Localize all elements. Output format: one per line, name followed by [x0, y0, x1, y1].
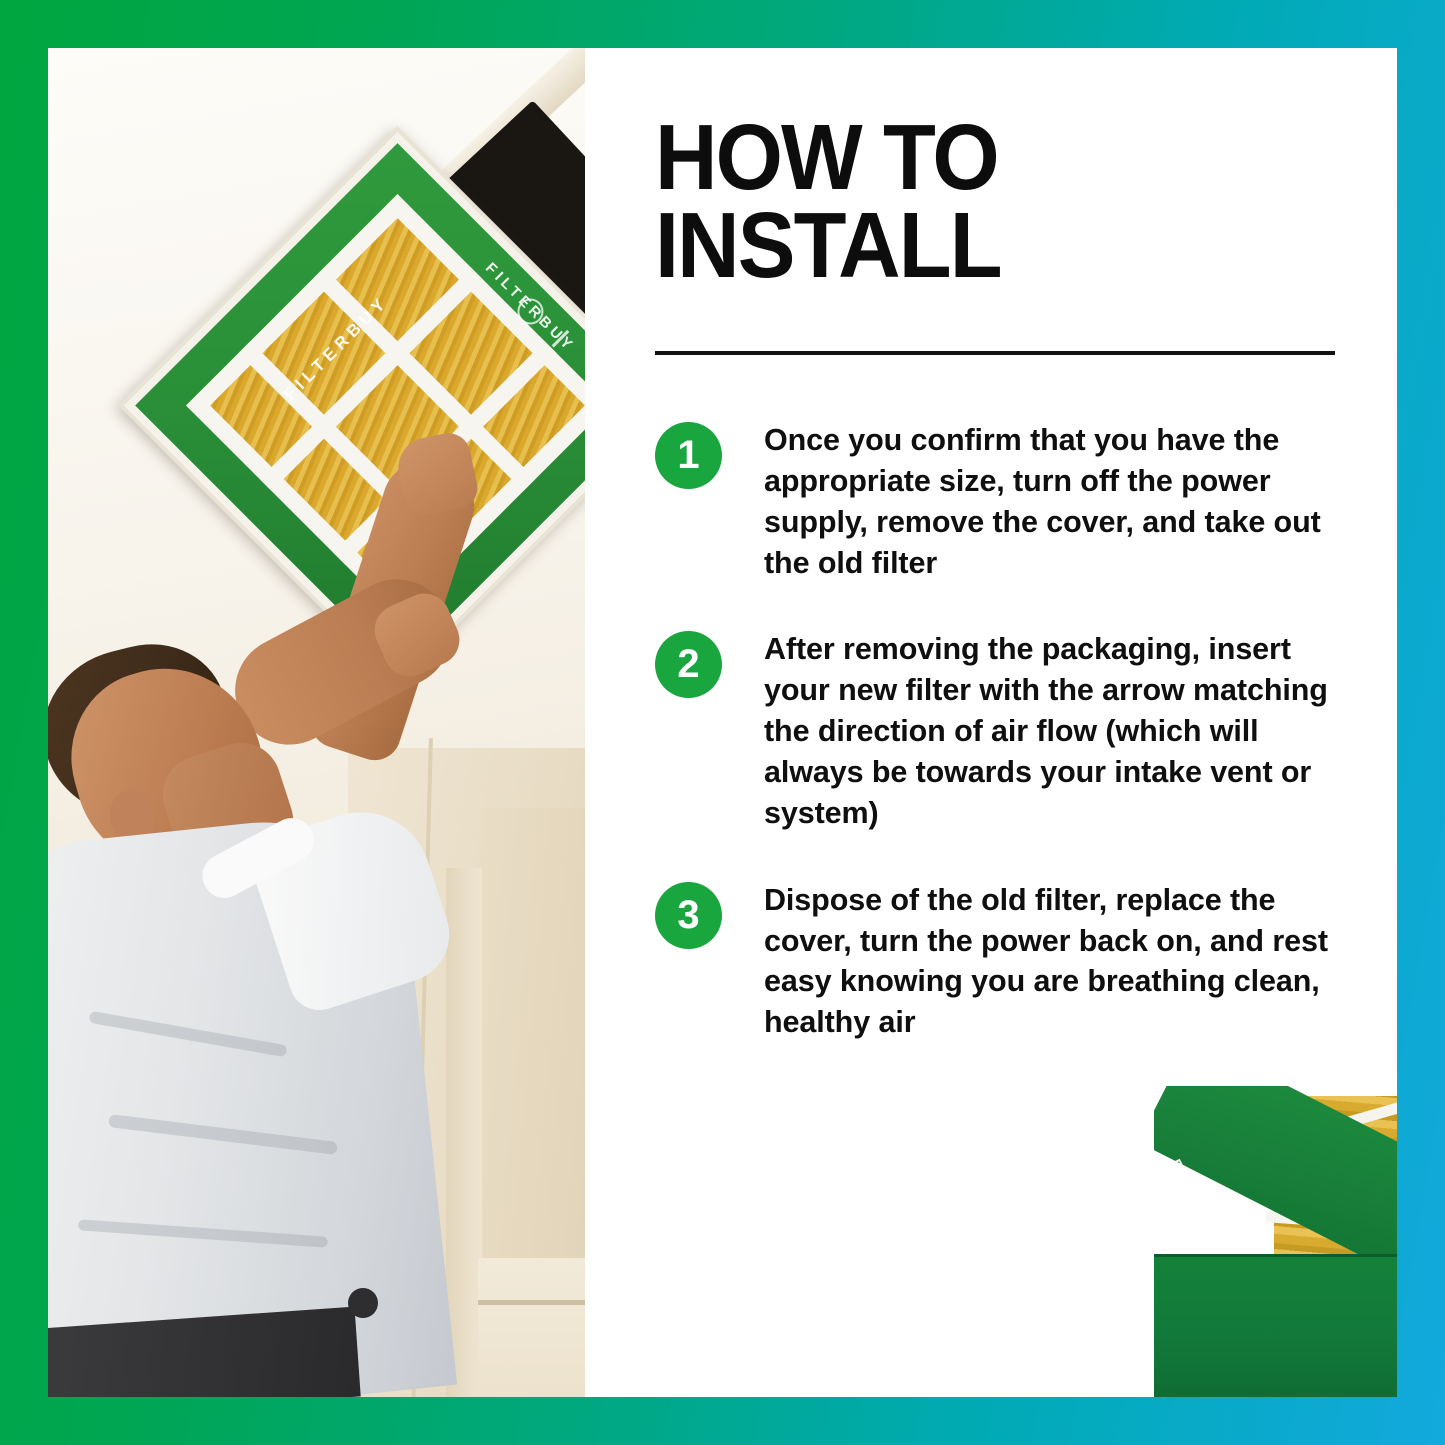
door-frame	[446, 868, 482, 1397]
poster-canvas: FILTERBUY FILTERBUY HO	[48, 48, 1397, 1397]
step-text-2: After removing the packaging, insert you…	[764, 629, 1364, 833]
baseboard-line	[478, 1300, 585, 1305]
door-knob	[348, 1288, 378, 1318]
product-green-frame-front: AIR FLOW	[1154, 1257, 1397, 1397]
page-title: HOW TO INSTALL	[655, 113, 1306, 290]
step-text-3: Dispose of the old filter, replace the c…	[764, 880, 1364, 1043]
title-divider	[655, 351, 1335, 355]
title-line-2: INSTALL	[655, 201, 1306, 289]
poster-root: FILTERBUY FILTERBUY HO	[0, 0, 1445, 1445]
step-item-2: 2 After removing the packaging, insert y…	[655, 629, 1371, 833]
step-number-badge-1: 1	[655, 422, 722, 489]
step-item-1: 1 Once you confirm that you have the app…	[655, 420, 1371, 583]
baseboard	[478, 1258, 585, 1397]
step-text-1: Once you confirm that you have the appro…	[764, 420, 1364, 583]
step-number-badge-3: 3	[655, 882, 722, 949]
product-filter-image: FILTERBUY AIR FLOW	[1154, 1086, 1397, 1397]
step-number-badge-2: 2	[655, 631, 722, 698]
steps-list: 1 Once you confirm that you have the app…	[655, 420, 1371, 1089]
title-line-1: HOW TO	[655, 113, 1306, 201]
step-item-3: 3 Dispose of the old filter, replace the…	[655, 880, 1371, 1043]
installation-photo: FILTERBUY FILTERBUY	[48, 48, 585, 1397]
